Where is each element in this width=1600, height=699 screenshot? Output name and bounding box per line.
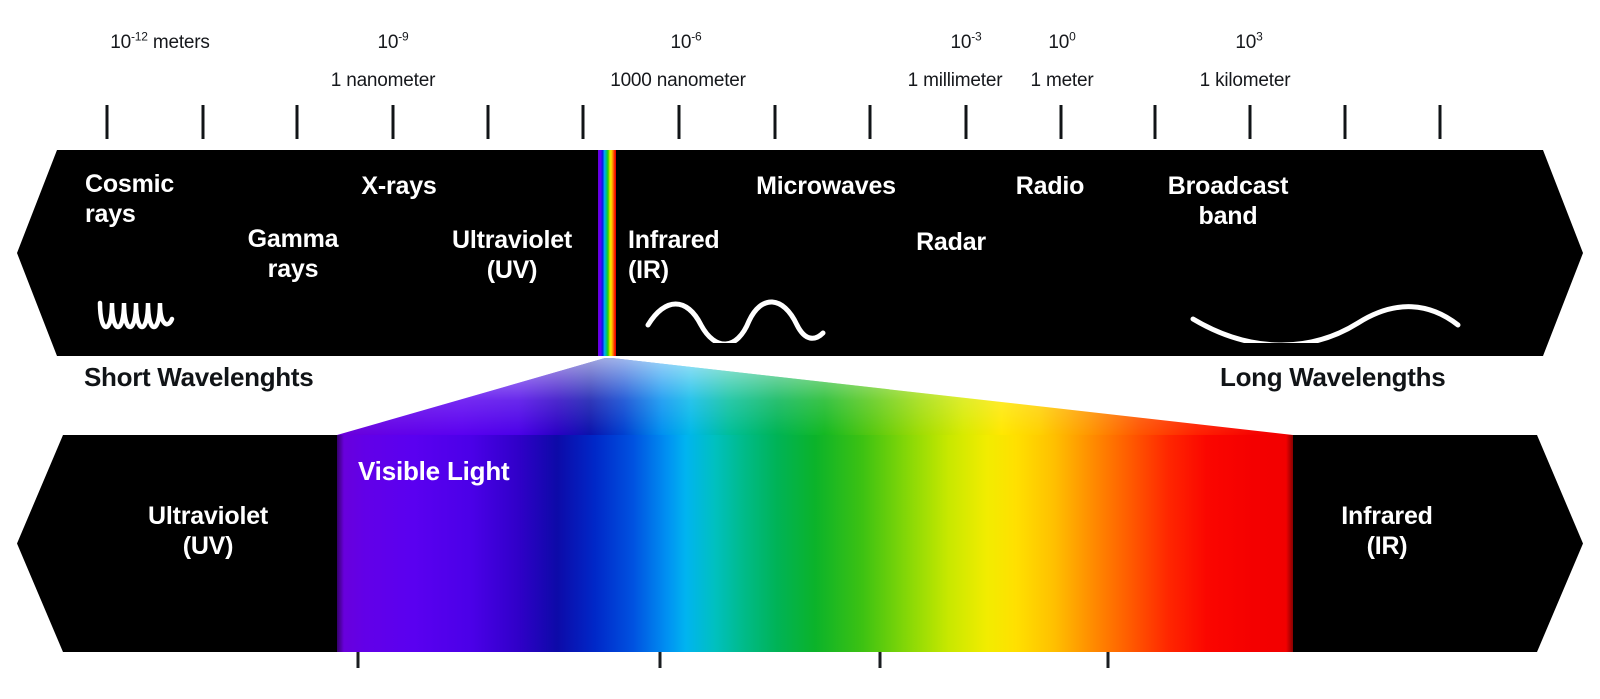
bottom-tick xyxy=(357,652,360,668)
region-radar: Radar xyxy=(916,228,986,258)
scale-unit-label: 1 kilometer xyxy=(1200,70,1291,92)
region-infrared: Infrared (IR) xyxy=(628,226,719,285)
scale-tick xyxy=(1249,105,1252,139)
bottom-tick xyxy=(659,652,662,668)
region-x-rays: X-rays xyxy=(361,172,436,202)
bottom-region-ultraviolet: Ultraviolet (UV) xyxy=(148,502,268,561)
scale-tick xyxy=(296,105,299,139)
scale-unit-label: 1 meter xyxy=(1030,70,1093,92)
short-wave-icon xyxy=(96,295,188,343)
region-gamma-rays: Gamma rays xyxy=(248,225,339,284)
region-microwaves: Microwaves xyxy=(756,172,896,202)
scale-exponent-label: 10-6 xyxy=(670,32,701,54)
bottom-region-infrared: Infrared (IR) xyxy=(1341,502,1432,561)
scale-exponent-label: 10-9 xyxy=(377,32,408,54)
scale-tick xyxy=(1154,105,1157,139)
scale-exponent-label: 103 xyxy=(1235,32,1262,54)
region-broadcast-band: Broadcast band xyxy=(1168,172,1288,231)
visible-light-sliver xyxy=(598,150,616,356)
electromagnetic-spectrum-figure: 10-12 meters 10-9 10-6 10-3 100 103 1 na… xyxy=(0,0,1600,699)
dispersion-cone xyxy=(0,352,1600,440)
visible-light-label: Visible Light xyxy=(358,456,510,487)
long-wave-icon xyxy=(1190,295,1462,343)
bottom-tick xyxy=(879,652,882,668)
scale-tick xyxy=(678,105,681,139)
scale-tick xyxy=(1344,105,1347,139)
scale-unit-label: 1 nanometer xyxy=(331,70,435,92)
bottom-tick xyxy=(1107,652,1110,668)
visible-gradient-right-fade xyxy=(1286,435,1302,652)
scale-tick xyxy=(774,105,777,139)
scale-tick xyxy=(392,105,395,139)
scale-tick xyxy=(965,105,968,139)
region-radio: Radio xyxy=(1016,172,1084,202)
region-ultraviolet: Ultraviolet (UV) xyxy=(452,226,572,285)
region-cosmic-rays: Cosmic rays xyxy=(85,170,174,229)
scale-unit-label: 1 millimeter xyxy=(908,70,1003,92)
scale-tick xyxy=(202,105,205,139)
medium-wave-icon xyxy=(645,295,835,343)
scale-tick xyxy=(106,105,109,139)
scale-exponent-label: 10-12 meters xyxy=(110,32,209,54)
scale-exponent-label: 10-3 xyxy=(950,32,981,54)
scale-unit-label: 1000 nanometer xyxy=(610,70,746,92)
scale-tick xyxy=(1439,105,1442,139)
scale-tick xyxy=(869,105,872,139)
visible-gradient-left-fade xyxy=(330,435,344,652)
scale-tick xyxy=(487,105,490,139)
scale-exponent-label: 100 xyxy=(1048,32,1075,54)
scale-tick xyxy=(582,105,585,139)
scale-tick xyxy=(1060,105,1063,139)
